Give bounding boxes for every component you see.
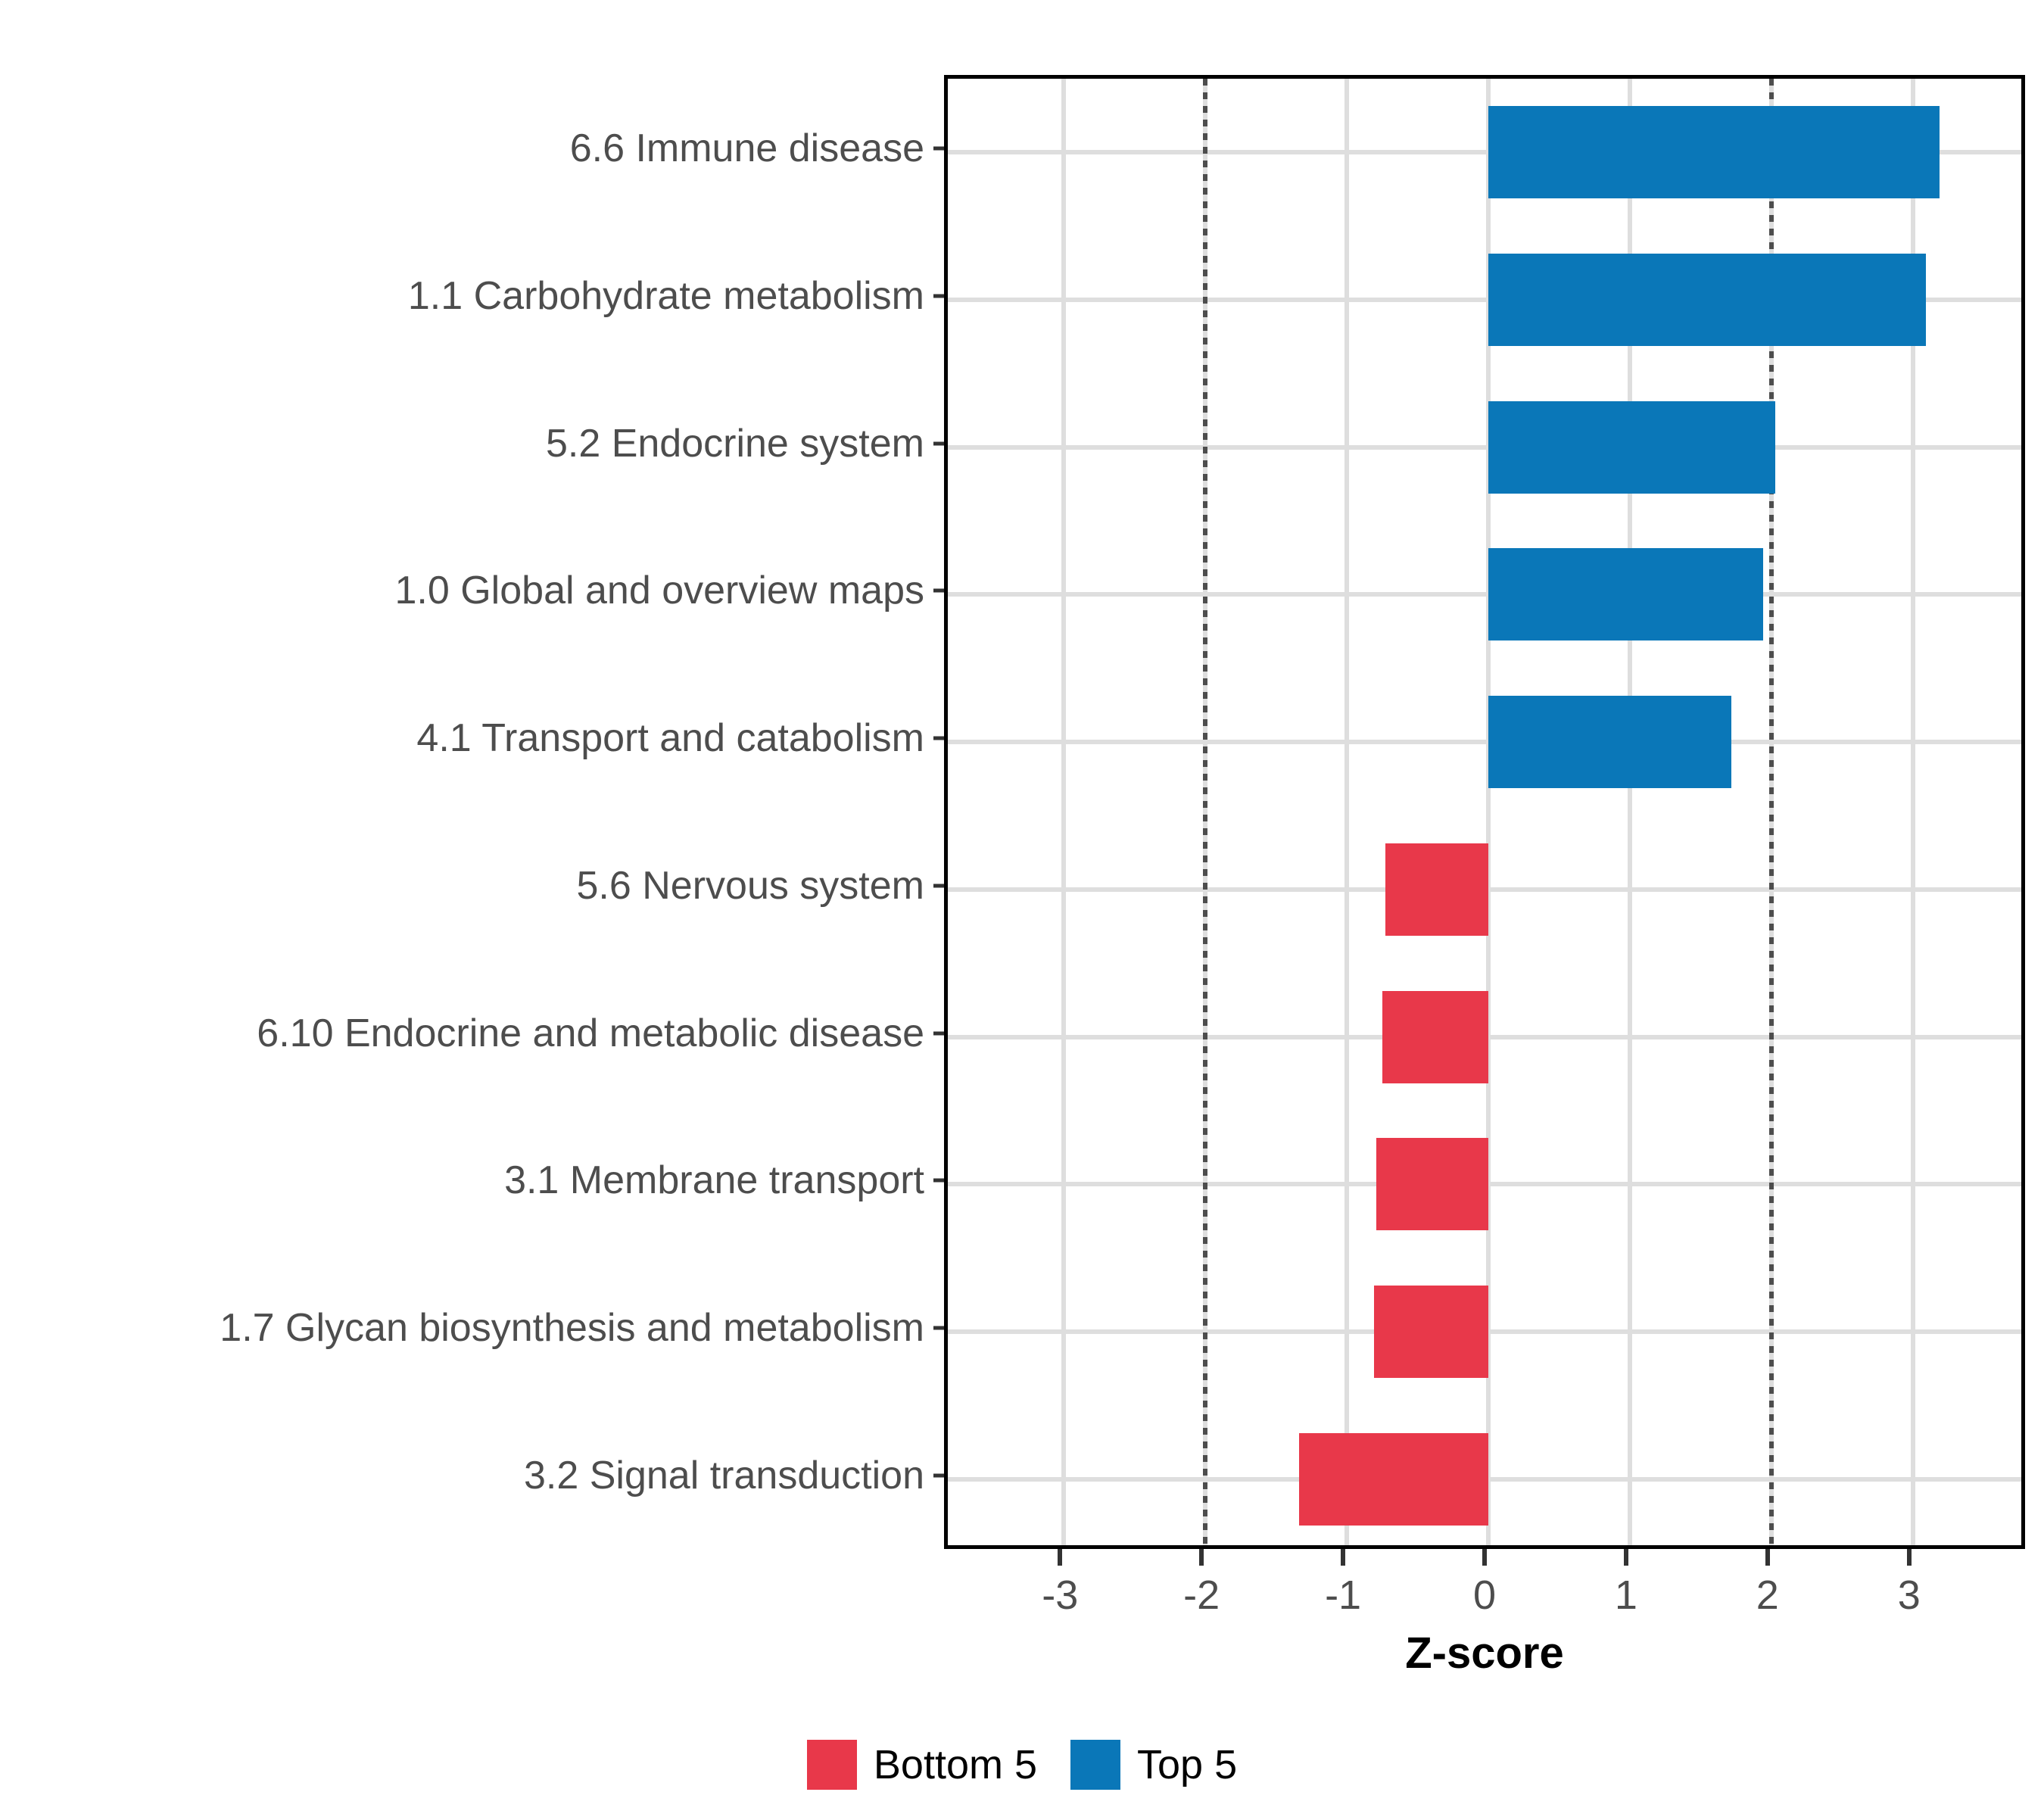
bar [1488,254,1926,346]
x-axis-tick-label: 0 [1473,1575,1496,1616]
x-axis-tick-label: -2 [1183,1575,1220,1616]
legend-label: Bottom 5 [874,1744,1037,1785]
y-axis-tick-mark [933,1473,944,1477]
reference-line [1203,79,1207,1545]
x-axis-tick-label: 2 [1756,1575,1779,1616]
bar [1376,1138,1488,1230]
y-axis-tick-label: 3.2 Signal transduction [524,1456,924,1495]
plot-panel [944,75,2025,1549]
bar [1382,991,1488,1083]
legend-item[interactable]: Top 5 [1070,1740,1237,1790]
y-axis-tick-label: 1.1 Carbohydrate metabolism [408,276,924,316]
x-axis-tick-label: 3 [1898,1575,1921,1616]
y-axis-tick-mark [933,1326,944,1329]
bar [1385,843,1488,936]
x-axis-tick-mark [1341,1549,1345,1566]
y-axis-tick-mark [933,589,944,593]
y-axis-tick-label: 1.0 Global and overview maps [395,571,925,610]
x-axis-tick-label: 1 [1615,1575,1637,1616]
legend-swatch [807,1740,857,1790]
x-axis-tick-mark [1058,1549,1062,1566]
y-axis-tick-label: 5.6 Nervous system [577,866,925,905]
chart-figure: 6.6 Immune disease1.1 Carbohydrate metab… [0,0,2044,1817]
x-axis-tick-label: -1 [1325,1575,1361,1616]
legend-item[interactable]: Bottom 5 [807,1740,1037,1790]
bar [1488,548,1763,640]
horizontal-gridline [948,740,2021,744]
x-axis-tick-mark [1482,1549,1487,1566]
horizontal-gridline [948,592,2021,597]
legend-label: Top 5 [1137,1744,1237,1785]
y-axis-tick-mark [933,147,944,151]
bar [1488,106,1940,198]
x-axis-title: Z-score [944,1628,2025,1678]
x-axis-tick-mark [1624,1549,1628,1566]
bar [1488,401,1775,494]
y-axis-tick-label: 6.6 Immune disease [570,129,924,168]
bar [1299,1433,1488,1526]
x-axis-tick-mark [1199,1549,1204,1566]
x-axis-tick-mark [1765,1549,1770,1566]
horizontal-gridline [948,445,2021,450]
y-axis-tick-label: 5.2 Endocrine system [546,424,924,463]
y-axis-tick-label: 4.1 Transport and catabolism [416,718,924,758]
y-axis-tick-label: 3.1 Membrane transport [504,1161,924,1200]
y-axis-tick-mark [933,737,944,740]
y-axis-tick-label: 6.10 Endocrine and metabolic disease [257,1014,924,1053]
bar [1488,696,1731,788]
y-axis-tick-mark [933,295,944,298]
y-axis-tick-mark [933,1179,944,1183]
legend-swatch [1070,1740,1120,1790]
bar [1374,1286,1488,1378]
chart-legend: Bottom 5Top 5 [0,1740,2044,1790]
x-axis-tick-mark [1907,1549,1912,1566]
y-axis-tick-mark [933,441,944,445]
y-axis-tick-mark [933,1031,944,1035]
y-axis-tick-label: 1.7 Glycan biosynthesis and metabolism [220,1308,924,1348]
x-axis-tick-label: -3 [1042,1575,1078,1616]
y-axis-tick-mark [933,884,944,887]
